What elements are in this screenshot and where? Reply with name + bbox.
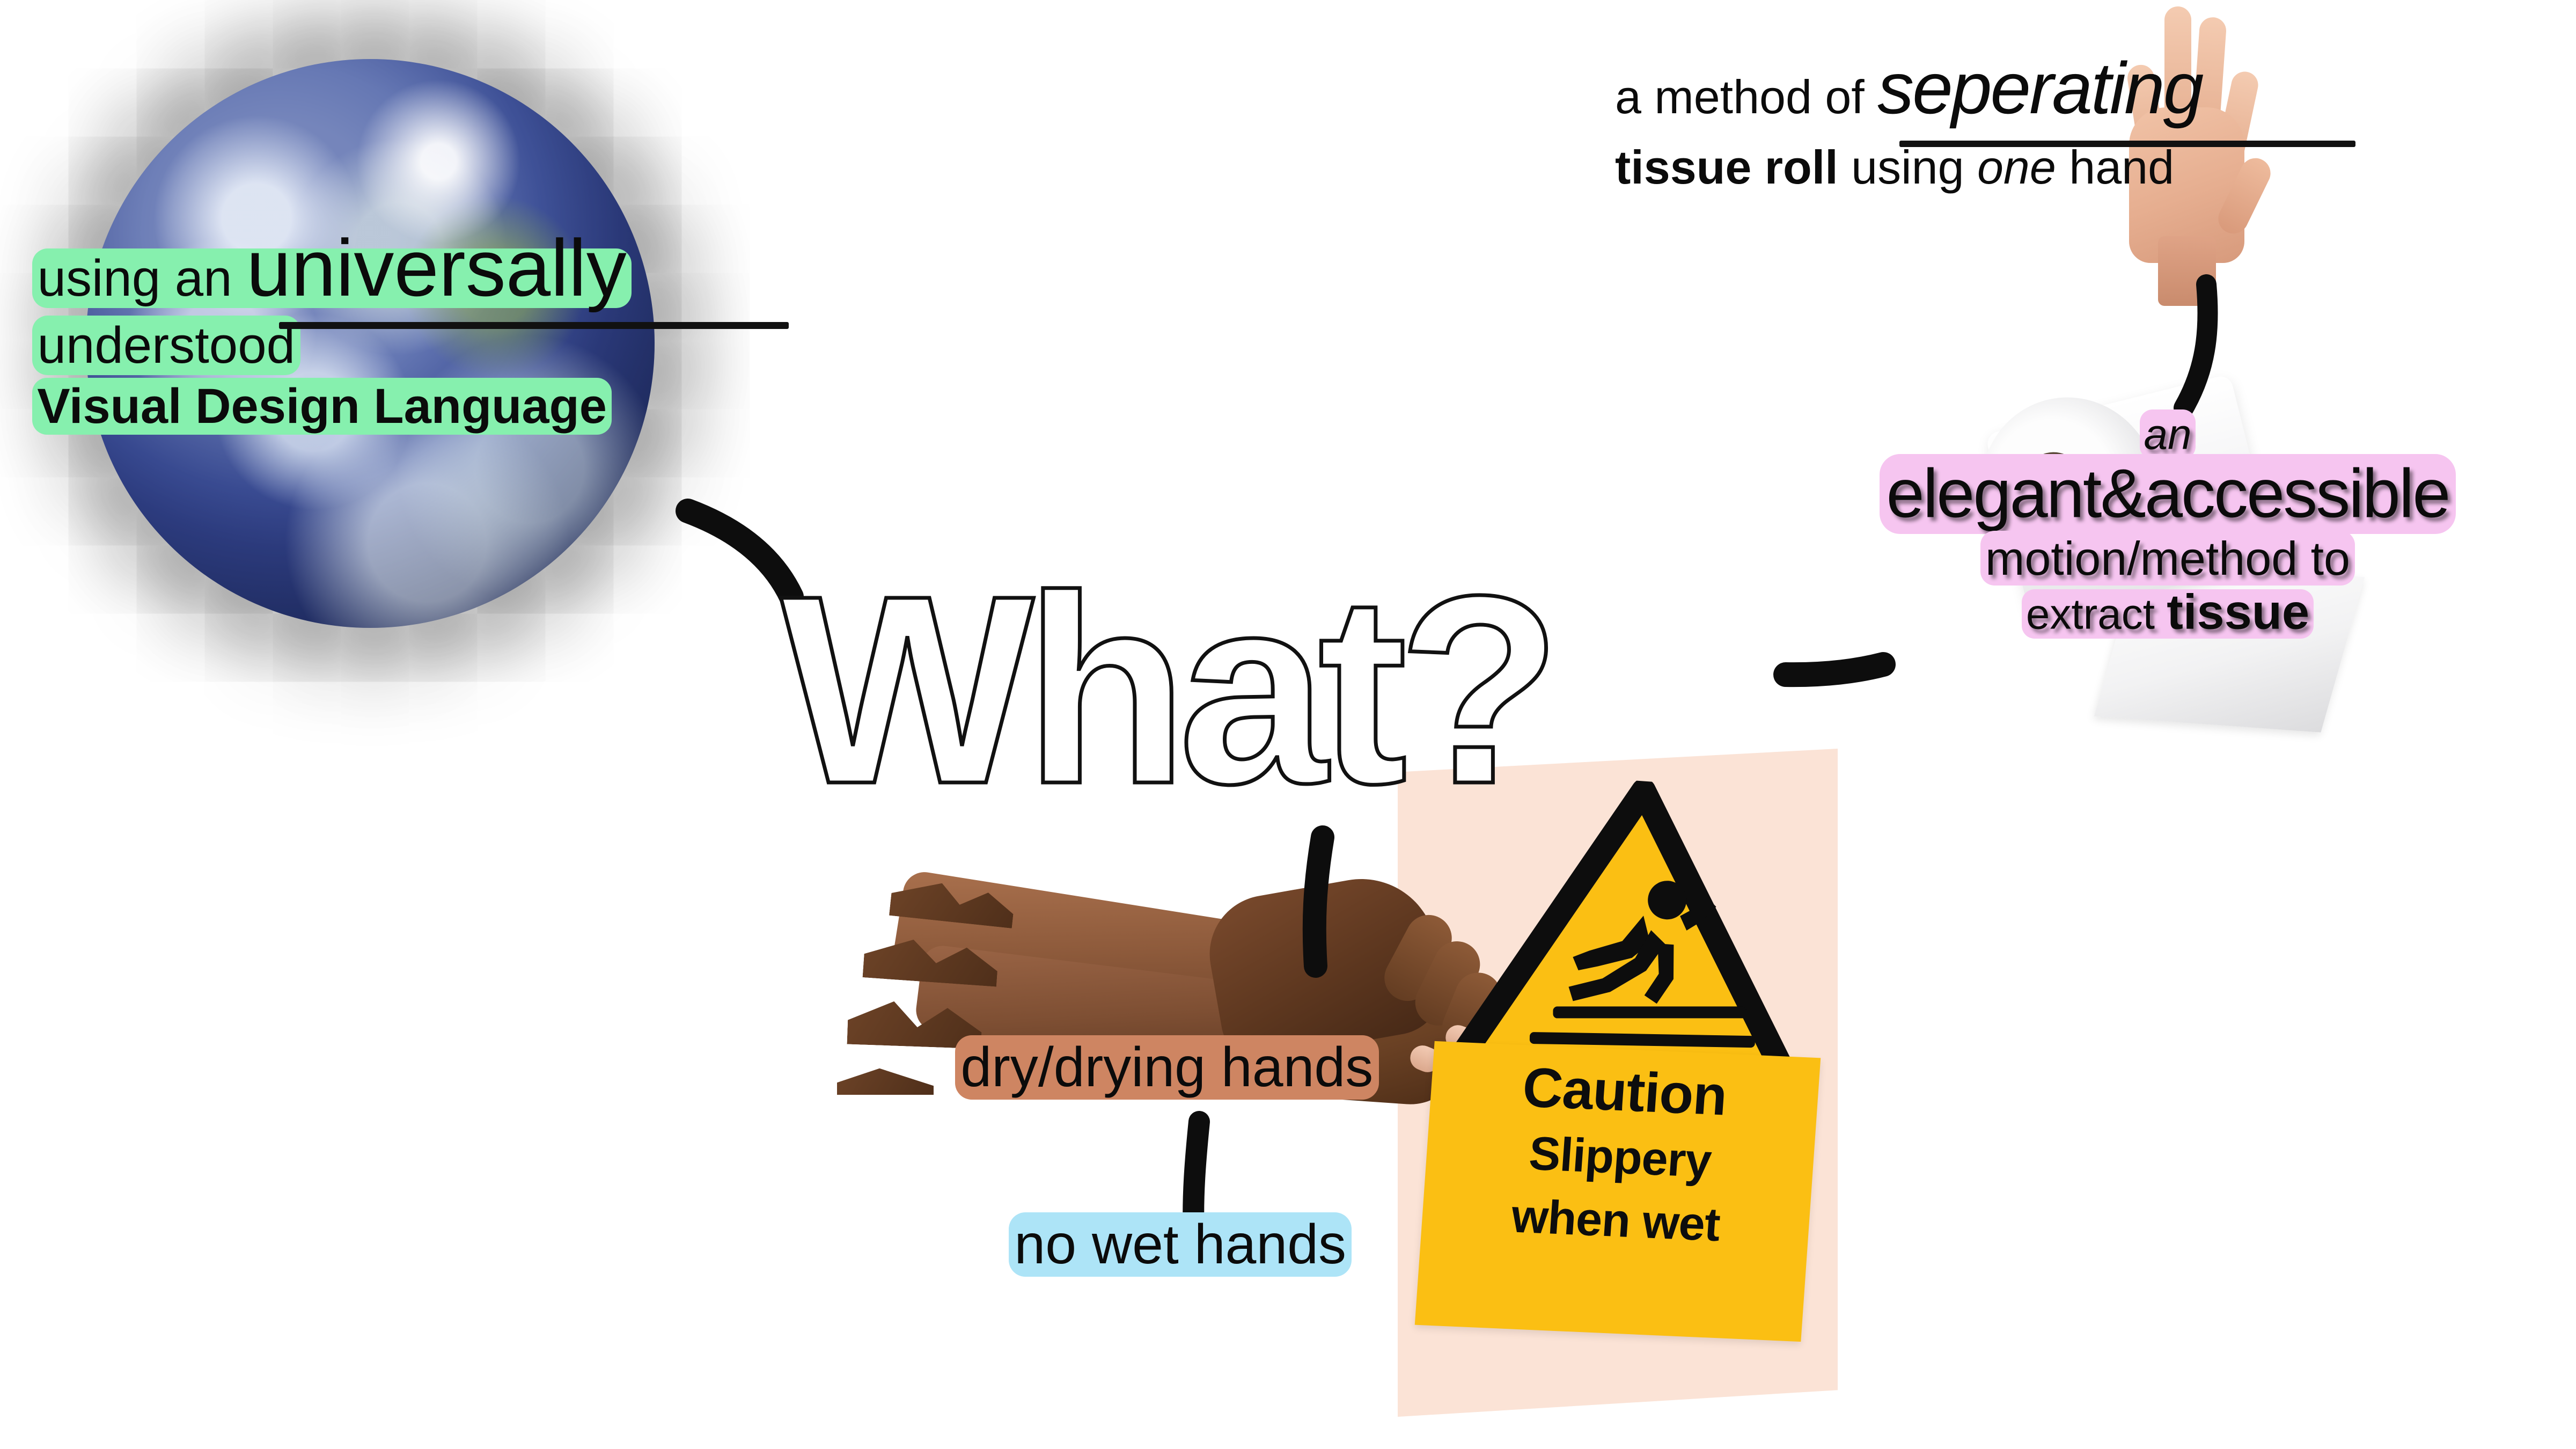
method-line-2: tissue roll using one hand (1615, 142, 2377, 194)
elegant-line-0: an (1738, 413, 2576, 456)
elegant-line-3b: tissue (2167, 585, 2309, 640)
caution-text-board: Caution Slippery when wet (1415, 1041, 1821, 1342)
caution-line-3: when wet (1421, 1184, 1811, 1256)
elegant-line-2: motion/method to (1738, 533, 2576, 583)
elegant-line-2-text: motion/method to (1980, 531, 2355, 586)
no-wet-hands-text: no wet hands (1009, 1212, 1352, 1277)
caution-line-2: Slippery (1425, 1122, 1815, 1193)
globe-annotation: using an universally understood Visual D… (32, 225, 783, 433)
globe-line-1b: universally (246, 223, 627, 313)
no-wet-hands-annotation: no wet hands (1009, 1213, 1352, 1277)
method-line-2b: using (1838, 141, 1977, 194)
mindmap-canvas: Caution Slippery when wet What? using an… (0, 0, 2576, 1449)
globe-line-3: Visual Design Language (32, 380, 783, 433)
elegant-line-3a: extract (2026, 590, 2167, 638)
method-annotation: a method of seperating tissue roll using… (1615, 48, 2377, 193)
elegant-line-1-text: elegant&accessible (1880, 454, 2456, 533)
method-line-1b: seperating (1877, 47, 2202, 129)
globe-underline-rule (279, 322, 789, 329)
globe-line-1a: using an (38, 250, 247, 307)
method-line-2a: tissue roll (1615, 141, 1838, 194)
connector-globe-to-center (688, 511, 791, 597)
dry-hands-text: dry/drying hands (955, 1035, 1379, 1100)
method-underline-rule (1899, 141, 2355, 147)
elegant-line-1: elegant&accessible (1738, 458, 2576, 530)
dry-hands-annotation: dry/drying hands (955, 1036, 1379, 1100)
elegant-line-0-text: an (2140, 409, 2196, 459)
caution-line-1: Caution (1429, 1052, 1820, 1132)
method-line-2d: hand (2056, 141, 2174, 194)
globe-line-3-text: Visual Design Language (32, 378, 612, 435)
caution-wet-floor-sign: Caution Slippery when wet (1425, 781, 1832, 1398)
method-line-2c: one (1977, 141, 2056, 194)
elegant-annotation: an elegant&accessible motion/method to e… (1738, 413, 2576, 638)
method-line-1: a method of seperating (1615, 48, 2377, 129)
hand-wrist (2158, 236, 2216, 306)
globe-line-2-text: understood (32, 316, 300, 375)
torn-edge (837, 1063, 934, 1095)
globe-line-1: using an universally (32, 225, 783, 311)
method-line-1a: a method of (1615, 70, 1877, 123)
page-title-what: What? (781, 539, 1854, 851)
elegant-line-3: extract tissue (1738, 587, 2576, 639)
